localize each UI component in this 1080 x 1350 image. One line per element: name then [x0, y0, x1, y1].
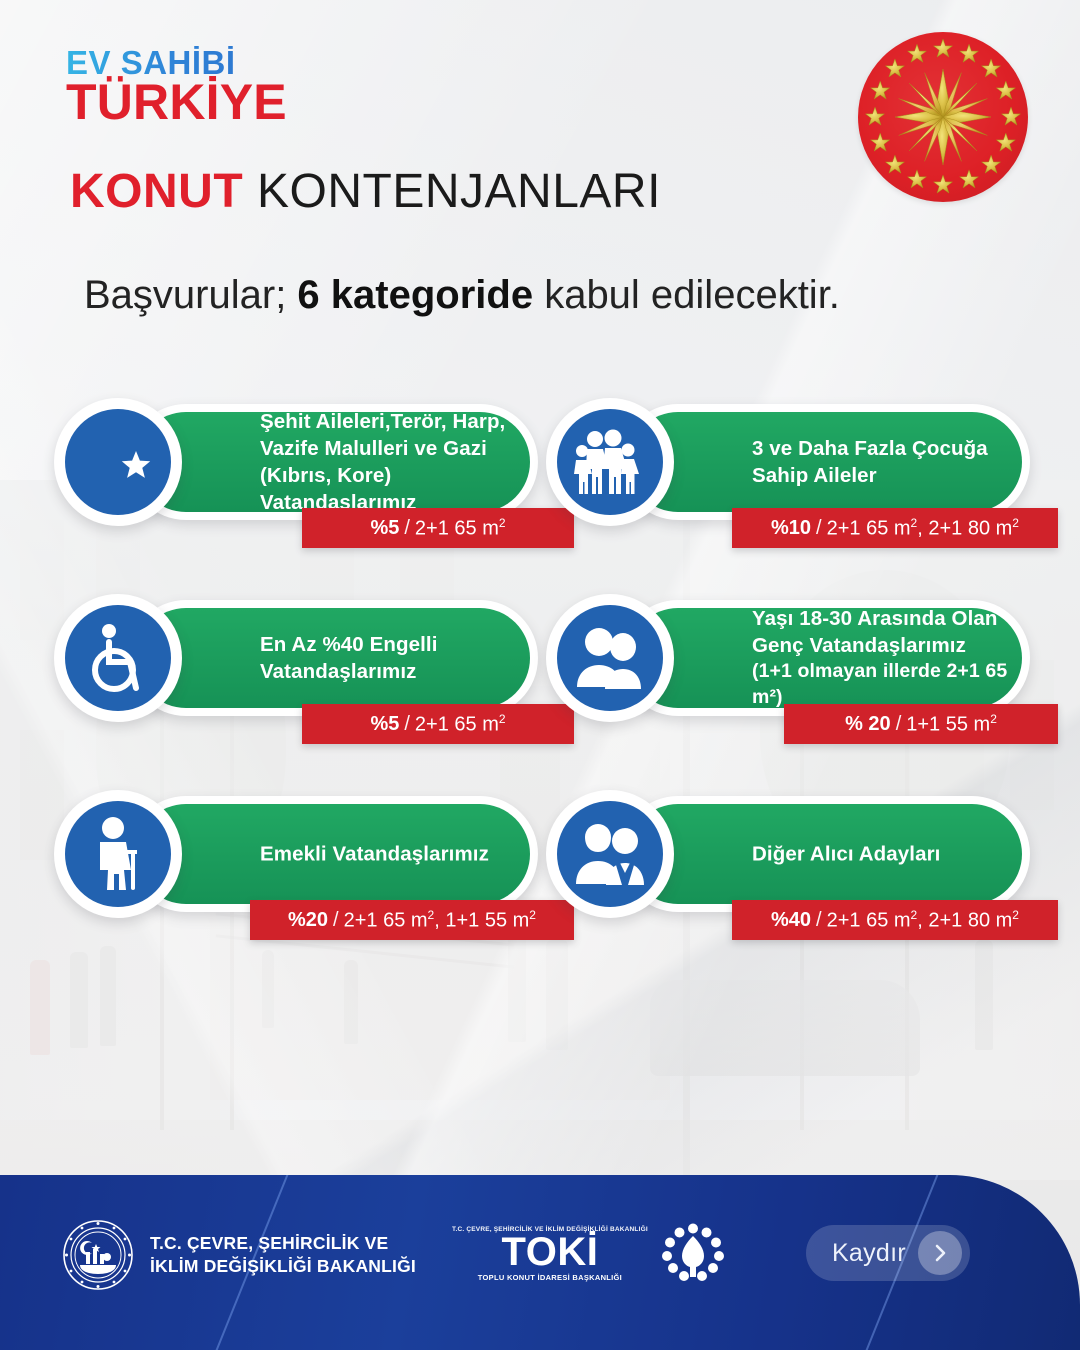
family-group-icon — [557, 409, 663, 515]
category-card[interactable]: En Az %40 Engelli Vatandaşlarımız — [54, 600, 538, 734]
category-icon-frame — [54, 790, 182, 918]
quota-percent: %40 — [771, 909, 811, 932]
footer-bar: T.C. ÇEVRE, ŞEHİRCİLİK VE İKLİM DEĞİŞİKL… — [0, 1175, 1080, 1350]
category-pill: Yaşı 18-30 Arasında Olan Genç Vatandaşla… — [620, 600, 1030, 716]
category-label-line: 3 ve Daha Fazla Çocuğa — [752, 435, 1012, 462]
category-row: Şehit Aileleri,Terör, Harp, Vazife Malul… — [0, 404, 1080, 600]
category-label: En Az %40 Engelli Vatandaşlarımız — [260, 631, 520, 685]
toki-wordmark: TOKİ — [452, 1233, 648, 1271]
quota-types: 2+1 65 m2, 2+1 80 m2 — [827, 516, 1019, 541]
quota-percent: %10 — [771, 517, 811, 540]
category-label-line: Şehit Aileleri,Terör, Harp, — [260, 408, 520, 435]
quota-types: 2+1 65 m2 — [415, 712, 506, 737]
page-subtitle: Başvurular; 6 kategoride kabul edilecekt… — [84, 273, 840, 318]
toki-tree-icon — [662, 1223, 724, 1285]
category-icon-frame — [546, 398, 674, 526]
category-icon-frame — [546, 594, 674, 722]
category-row: En Az %40 Engelli Vatandaşlarımız — [0, 600, 1080, 796]
elderly-person-icon — [65, 801, 171, 907]
category-pill: Şehit Aileleri,Terör, Harp, Vazife Malul… — [128, 404, 538, 520]
category-label-line: Genç Vatandaşlarımız — [752, 632, 1012, 659]
toki-subtext: TOPLU KONUT İDARESİ BAŞKANLIĞI — [452, 1273, 648, 1282]
category-label: Emekli Vatandaşlarımız — [260, 840, 520, 867]
page-title-highlight: KONUT — [70, 165, 243, 218]
brand-line-turkiye: TÜRKİYE — [66, 77, 287, 128]
category-label-line: Vazife Malulleri ve Gazi — [260, 435, 520, 462]
category-card[interactable]: Yaşı 18-30 Arasında Olan Genç Vatandaşla… — [546, 600, 1030, 734]
quota-types: 2+1 65 m2 — [415, 516, 506, 541]
category-label-line: Diğer Alıcı Adayları — [752, 840, 1012, 867]
infographic-poster: EV SAHİBİ TÜRKİYE — [0, 0, 1080, 1350]
category-icon-frame — [54, 594, 182, 722]
page-title: KONUT KONTENJANLARI — [70, 164, 661, 219]
category-label-line: Sahip Aileler — [752, 462, 1012, 489]
quota-badge: %20/2+1 65 m2, 1+1 55 m2 — [250, 900, 574, 940]
young-couple-icon — [557, 605, 663, 711]
category-card[interactable]: Şehit Aileleri,Terör, Harp, Vazife Malul… — [54, 404, 538, 538]
category-row: Emekli Vatandaşlarımız %20/2+1 65 m — [0, 796, 1080, 992]
category-pill: Diğer Alıcı Adayları — [620, 796, 1030, 912]
category-pill: 3 ve Daha Fazla Çocuğa Sahip Aileler — [620, 404, 1030, 520]
turkish-presidency-seal-icon — [858, 32, 1028, 202]
category-label-line: Vatandaşlarımız — [260, 658, 520, 685]
quota-types: 2+1 65 m2, 1+1 55 m2 — [344, 908, 536, 933]
quota-badge: %40/2+1 65 m2, 2+1 80 m2 — [732, 900, 1058, 940]
category-card[interactable]: Emekli Vatandaşlarımız %20/2+1 65 m — [54, 796, 538, 930]
toki-supertext: T.C. ÇEVRE, ŞEHİRCİLİK VE İKLİM DEĞİŞİKL… — [452, 1226, 648, 1233]
category-label: Diğer Alıcı Adayları — [752, 840, 1012, 867]
quota-types: 2+1 65 m2, 2+1 80 m2 — [827, 908, 1019, 933]
category-card[interactable]: 3 ve Daha Fazla Çocuğa Sahip Aileler — [546, 404, 1030, 538]
two-adults-icon — [557, 801, 663, 907]
category-pill: En Az %40 Engelli Vatandaşlarımız — [128, 600, 538, 716]
category-icon-frame — [54, 398, 182, 526]
quota-badge: % 20/1+1 55 m2 — [784, 704, 1058, 744]
crescent-star-icon — [65, 409, 171, 515]
category-icon-frame — [546, 790, 674, 918]
category-card[interactable]: Diğer Alıcı Adayları — [546, 796, 1030, 930]
brand-lockup: EV SAHİBİ TÜRKİYE — [66, 46, 287, 128]
swipe-label: Kaydır — [832, 1239, 906, 1268]
subtitle-part-1: Başvurular; — [84, 273, 297, 317]
swipe-button[interactable]: Kaydır — [806, 1225, 970, 1281]
category-label-line: En Az %40 Engelli — [260, 631, 520, 658]
ministry-logo: T.C. ÇEVRE, ŞEHİRCİLİK VE İKLİM DEĞİŞİKL… — [62, 1219, 416, 1291]
quota-percent: %5 — [370, 713, 399, 736]
category-grid: Şehit Aileleri,Terör, Harp, Vazife Malul… — [0, 404, 1080, 992]
quota-badge: %5/2+1 65 m2 — [302, 508, 574, 548]
subtitle-highlight: 6 kategoride — [297, 273, 533, 317]
ministry-seal-icon — [62, 1219, 134, 1291]
category-pill: Emekli Vatandaşlarımız — [128, 796, 538, 912]
toki-logo: T.C. ÇEVRE, ŞEHİRCİLİK VE İKLİM DEĞİŞİKL… — [452, 1223, 724, 1285]
category-label-line: Emekli Vatandaşlarımız — [260, 840, 520, 867]
ministry-name-line-2: İKLİM DEĞİŞİKLİĞİ BAKANLIĞI — [150, 1255, 416, 1278]
category-label-line: Yaşı 18-30 Arasında Olan — [752, 605, 1012, 632]
ministry-name-line-1: T.C. ÇEVRE, ŞEHİRCİLİK VE — [150, 1232, 416, 1255]
category-label: Şehit Aileleri,Terör, Harp, Vazife Malul… — [260, 408, 520, 516]
quota-badge: %5/2+1 65 m2 — [302, 704, 574, 744]
chevron-right-icon[interactable] — [918, 1231, 962, 1275]
wheelchair-icon — [65, 605, 171, 711]
quota-percent: % 20 — [845, 713, 891, 736]
quota-badge: %10/2+1 65 m2, 2+1 80 m2 — [732, 508, 1058, 548]
quota-percent: %20 — [288, 909, 328, 932]
category-label: 3 ve Daha Fazla Çocuğa Sahip Aileler — [752, 435, 1012, 489]
quota-types: 1+1 55 m2 — [906, 712, 997, 737]
ministry-name: T.C. ÇEVRE, ŞEHİRCİLİK VE İKLİM DEĞİŞİKL… — [150, 1232, 416, 1278]
page-title-rest: KONTENJANLARI — [257, 165, 661, 218]
subtitle-part-2: kabul edilecektir. — [533, 273, 840, 317]
quota-percent: %5 — [370, 517, 399, 540]
category-label: Yaşı 18-30 Arasında Olan Genç Vatandaşla… — [752, 605, 1012, 711]
